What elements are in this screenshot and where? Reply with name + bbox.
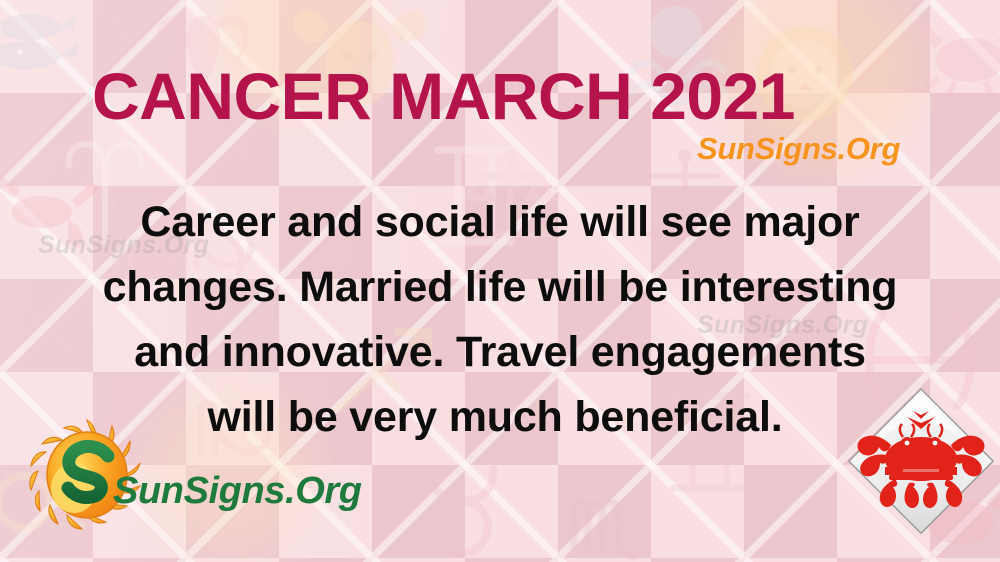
horoscope-line-3: and innovative. Travel engagements bbox=[48, 320, 952, 385]
horoscope-line-2: changes. Married life will be interestin… bbox=[48, 255, 952, 320]
horoscope-banner: SunSigns.Org SunSigns.Org CANCER MARCH 2… bbox=[0, 0, 1000, 562]
brand-label-top: SunSigns.Org bbox=[697, 131, 900, 167]
cancer-crab-badge bbox=[843, 383, 999, 539]
page-title: CANCER MARCH 2021 bbox=[92, 63, 795, 129]
horoscope-line-4: will be very much beneficial. bbox=[48, 385, 952, 450]
brand-label-bottom[interactable]: SunSigns.Org bbox=[113, 470, 362, 513]
horoscope-line-1: Career and social life will see major bbox=[48, 190, 952, 255]
